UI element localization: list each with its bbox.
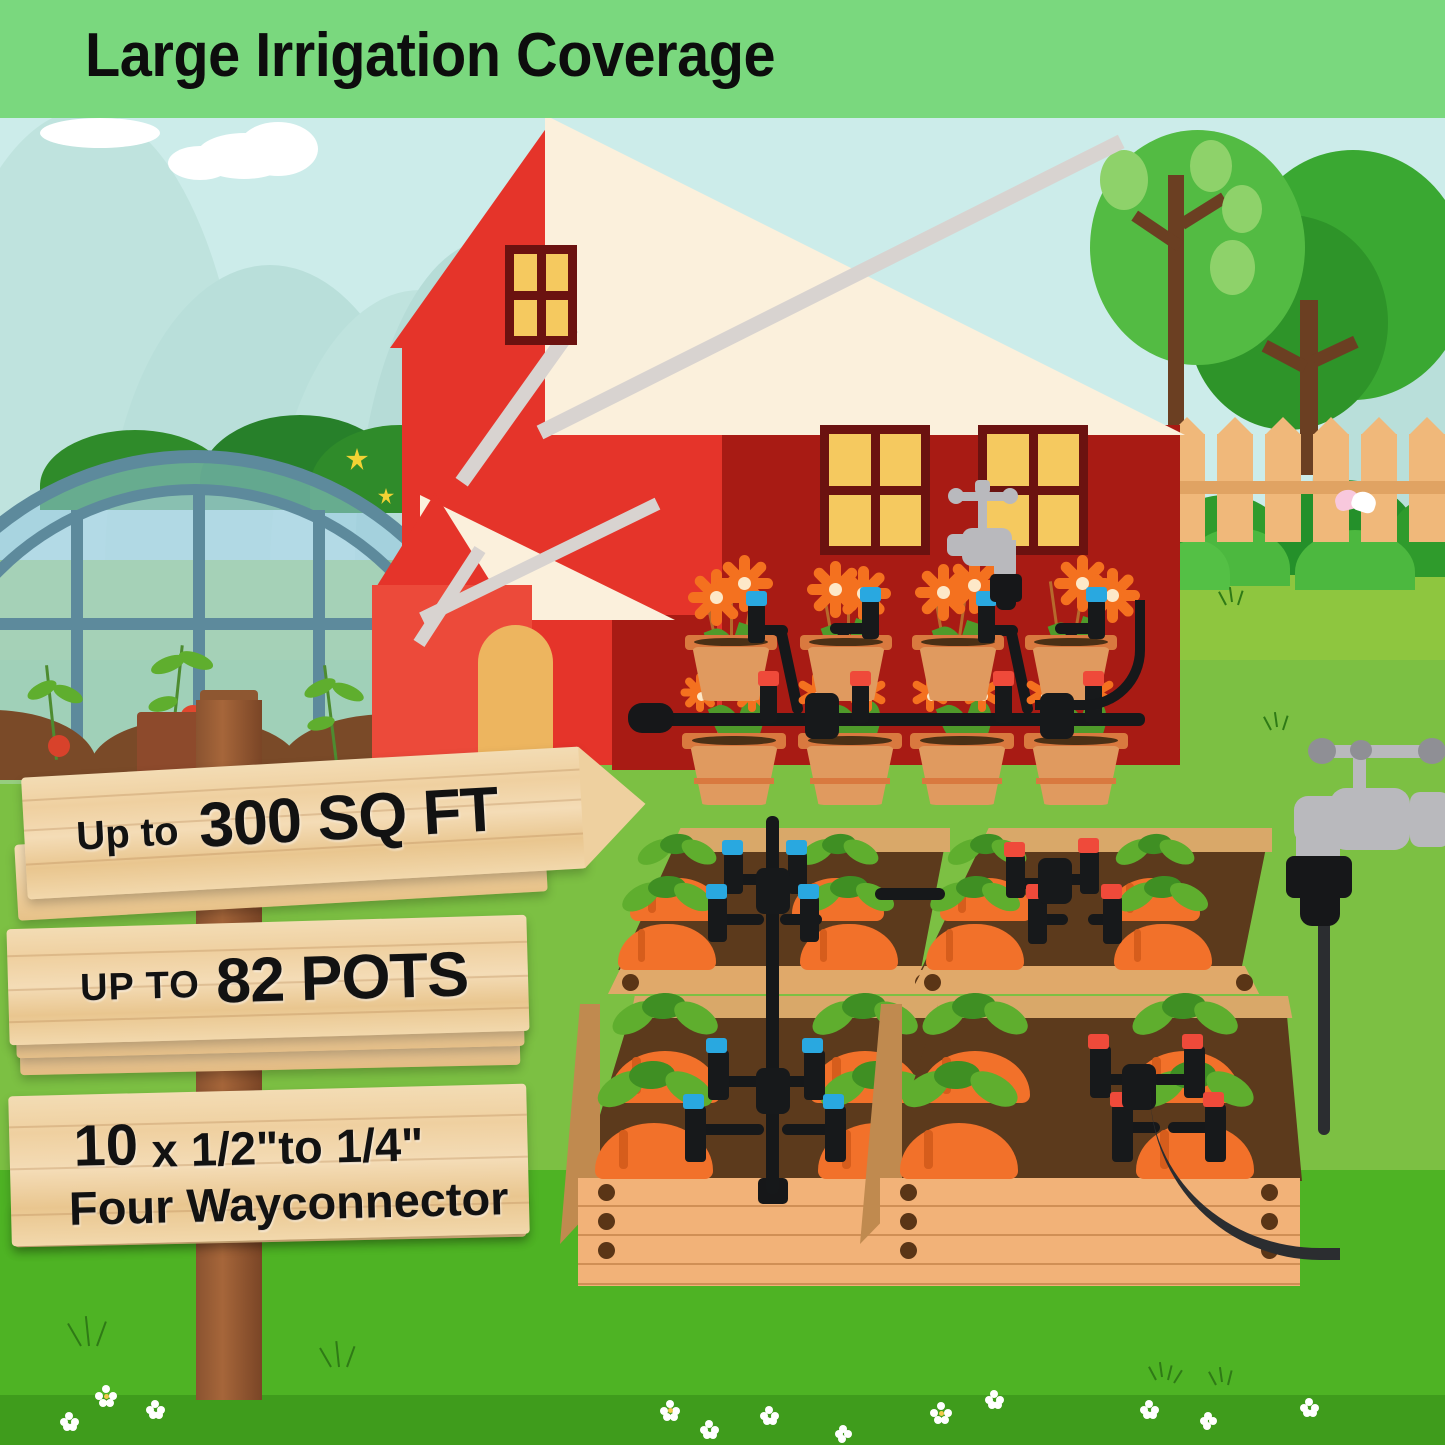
drip-tubing [700,1124,764,1135]
faucet-body-side [1410,792,1445,847]
page-title: Large Irrigation Coverage [85,20,775,91]
dripper-emitter [995,683,1012,723]
dripper-emitter [760,683,777,723]
wall-faucet [946,478,1056,608]
sign-pot-count[interactable]: UP TO 82 POTS [6,915,529,1045]
sign-connector-count[interactable]: 10 x 1/2"to 1/4" Four Wayconnector [8,1084,530,1247]
house-window-left [820,425,930,555]
tree-leaf [1210,240,1255,295]
faucet-handle-knob [948,488,964,504]
tree-leaf [1222,185,1262,233]
dripper-emitter [852,683,869,723]
dripper-emitter [748,603,765,643]
garden-faucet-tubing [1318,905,1330,1135]
sign-connector-spec: x 1/2"to 1/4" [151,1116,424,1178]
lawn-lowest [0,1395,1445,1445]
sign-coverage-prefix: Up to [75,809,180,860]
dripper-emitter [804,1050,825,1100]
faucet-handle-knob [1418,738,1445,764]
hose-adapter-tip [1300,888,1340,926]
dripper-emitter [1080,850,1099,894]
sign-connector-count-value: 10 [73,1111,139,1180]
carrot-plant [618,890,716,970]
hose-adapter-tip [996,596,1016,610]
sign-pot-value: 82 POTS [215,938,469,1017]
dripper-emitter [1112,1104,1133,1162]
dripper-emitter [862,599,879,639]
flower-pot [1024,733,1128,805]
four-way-connector [756,1068,790,1114]
faucet-body [1330,788,1410,850]
dripper-emitter [1103,896,1122,944]
product-marketing-image: Up to 300 SQ FT UP TO 82 POTS 10 x 1/2"t… [0,0,1445,1445]
four-way-connector [1038,858,1072,904]
flower-pot [910,733,1014,805]
dripper-emitter [1006,854,1025,898]
garden-faucet [1300,728,1445,918]
carrot-plant [926,890,1024,970]
cloud [238,122,318,176]
flower-pot [800,635,892,701]
tree-leaf [1190,140,1232,192]
sign-coverage-value: 300 SQ FT [197,773,500,862]
sign-connector-name: Four Wayconnector [68,1170,509,1236]
header-banner: Large Irrigation Coverage [0,0,1445,118]
flower-pot [682,733,786,805]
dripper-emitter [1090,1046,1111,1098]
dripper-emitter [800,896,819,942]
cloud [40,118,160,148]
carrot-plant [900,1083,1018,1179]
cloud [168,146,232,180]
dripper-emitter [825,1106,846,1162]
bed-crossover-line [875,888,945,900]
line-end-cap [628,703,674,733]
sign-pot-prefix: UP TO [80,964,201,1010]
dripper-emitter [708,1050,729,1100]
dripper-emitter [978,603,995,643]
faucet-handle-top [975,480,990,494]
four-way-connector [805,693,839,739]
dripper-emitter [708,896,727,942]
flower-pot [912,635,1004,701]
flower-pot [798,733,902,805]
faucet-handle-knob [1002,488,1018,504]
porch-gable [375,493,495,589]
faucet-wall-mount [947,534,969,556]
dripper-emitter [685,1106,706,1162]
faucet-handle-knob [1308,738,1336,764]
four-way-connector [756,868,790,914]
house-window-upper [505,245,577,345]
drip-tubing [722,914,764,925]
faucet-handle-center [1350,740,1372,760]
picket-fence [1165,424,1445,544]
